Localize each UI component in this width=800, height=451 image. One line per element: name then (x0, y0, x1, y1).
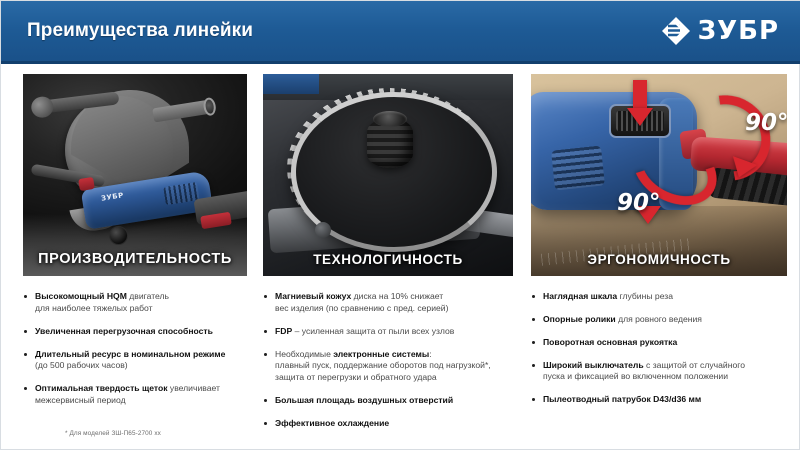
list-item: Необходимые электронные системы: плавный… (263, 349, 513, 385)
image-ergonomics: 90° 90° ЭРГОНОМИЧНОСТЬ (531, 74, 787, 276)
zubr-diamond-logo-icon (661, 16, 691, 46)
bullet-strong: Наглядная шкала (543, 291, 617, 301)
bullet-strong: Пылеотводный патрубок D43/d36 мм (543, 394, 701, 404)
list-item: Наглядная шкала глубины реза (531, 291, 787, 303)
bullet-rest: увеличивает (168, 383, 220, 393)
list-item: Поворотная основная рукоятка (531, 337, 787, 349)
bullet-list-performance: Высокомощный HQM двигатель для наиболее … (23, 291, 247, 407)
bullet-strong: Увеличенная перегрузочная способность (35, 326, 213, 336)
bullet-list-ergonomics: Наглядная шкала глубины реза Опорные рол… (531, 291, 787, 406)
switch-press-arrow-stem (633, 80, 647, 110)
list-item: Магниевый кожух диска на 10% снижает вес… (263, 291, 513, 315)
list-item: Высокомощный HQM двигатель для наиболее … (23, 291, 247, 315)
bullet-strong: Длительный ресурс в номинальном режиме (35, 349, 225, 359)
bullet-list-technology: Магниевый кожух диска на 10% снижает вес… (263, 291, 513, 430)
bullet-strong: Магниевый кожух (275, 291, 351, 301)
bullet-rest: с защитой от случайного (644, 360, 745, 370)
bullet-sub: (до 500 рабочих часов) (35, 360, 128, 370)
bullet-sub-2: защита от перегрузки и обратного удара (275, 372, 437, 382)
page-header: Преимущества линейки ЗУБР (1, 1, 800, 64)
bullet-rest: – усиленная защита от пыли всех узлов (292, 326, 454, 336)
image-technology: ТЕХНОЛОГИЧНОСТЬ (263, 74, 513, 276)
brand-name: ЗУБР (698, 18, 779, 44)
bullet-strong: Оптимальная твердость щеток (35, 383, 168, 393)
caption-technology: ТЕХНОЛОГИЧНОСТЬ (263, 252, 513, 267)
bullet-rest: глубины реза (617, 291, 673, 301)
column-technology: ТЕХНОЛОГИЧНОСТЬ Магниевый кожух диска на… (263, 74, 513, 441)
brand-logo: ЗУБР (661, 16, 779, 46)
shoe-bolt-shape (315, 222, 331, 238)
list-item: Оптимальная твердость щеток увеличивает … (23, 383, 247, 407)
bullet-strong: Широкий выключатель (543, 360, 644, 370)
bullet-rest: диска на 10% снижает (351, 291, 443, 301)
body-vents-shape (551, 145, 605, 190)
bullet-strong: Эффективное охлаждение (275, 418, 389, 428)
list-item: Широкий выключатель с защитой от случайн… (531, 360, 787, 384)
bullet-strong: FDP (275, 326, 292, 336)
disc-hub-shape (367, 118, 413, 168)
caption-performance: ПРОИЗВОДИТЕЛЬНОСТЬ (23, 251, 247, 267)
list-item: Увеличенная перегрузочная способность (23, 326, 247, 338)
list-item: Длительный ресурс в номинальном режиме (… (23, 349, 247, 373)
list-item: Пылеотводный патрубок D43/d36 мм (531, 394, 787, 406)
bullet-strong: Поворотная основная рукоятка (543, 337, 677, 347)
guide-wheel-shape (109, 226, 128, 245)
column-ergonomics: 90° 90° ЭРГОНОМИЧНОСТЬ Наглядная шкала г… (531, 74, 787, 417)
bullet-sub: вес изделия (по сравнению с пред. серией… (275, 303, 448, 313)
bullet-strong: Опорные ролики (543, 314, 616, 324)
caption-ergonomics: ЭРГОНОМИЧНОСТЬ (531, 252, 787, 267)
list-item: Большая площадь воздушных отверстий (263, 395, 513, 407)
angle-label-right: 90° (745, 110, 787, 136)
bullet-sub: плавный пуск, поддержание оборотов под н… (275, 360, 491, 370)
bullet-sub: межсервисный период (35, 395, 126, 405)
list-item: Опорные ролики для ровного ведения (531, 314, 787, 326)
bullet-sub: для наиболее тяжелых работ (35, 303, 153, 313)
bullet-pre: Необходимые (275, 349, 333, 359)
bullet-rest: двигатель (127, 291, 169, 301)
column-performance: ЗУБР ПРОИЗВОДИТЕЛЬНОСТЬ Высокомощный HQM… (23, 74, 247, 418)
angle-label-left: 90° (617, 190, 661, 216)
content-columns: ЗУБР ПРОИЗВОДИТЕЛЬНОСТЬ Высокомощный HQM… (1, 64, 800, 451)
blue-machine-edge (263, 74, 319, 94)
switch-press-arrow-head (627, 108, 653, 126)
image-performance: ЗУБР ПРОИЗВОДИТЕЛЬНОСТЬ (23, 74, 247, 276)
bullet-strong: Большая площадь воздушных отверстий (275, 395, 453, 405)
bullet-rest: для ровного ведения (616, 314, 702, 324)
list-item: Эффективное охлаждение (263, 418, 513, 430)
page-title: Преимущества линейки (27, 20, 253, 42)
red-accent-shape (78, 177, 95, 191)
bullet-sub: пуска и фиксацией во включенном положени… (543, 371, 728, 381)
footnote: * Для моделей ЗШ-П65-2700 хх (65, 430, 161, 437)
bullet-strong: электронные системы (333, 349, 429, 359)
slide-page: Преимущества линейки ЗУБР (0, 0, 800, 450)
list-item: FDP – усиленная защита от пыли всех узло… (263, 326, 513, 338)
bullet-strong: Высокомощный HQM (35, 291, 127, 301)
bullet-rest: : (429, 349, 431, 359)
